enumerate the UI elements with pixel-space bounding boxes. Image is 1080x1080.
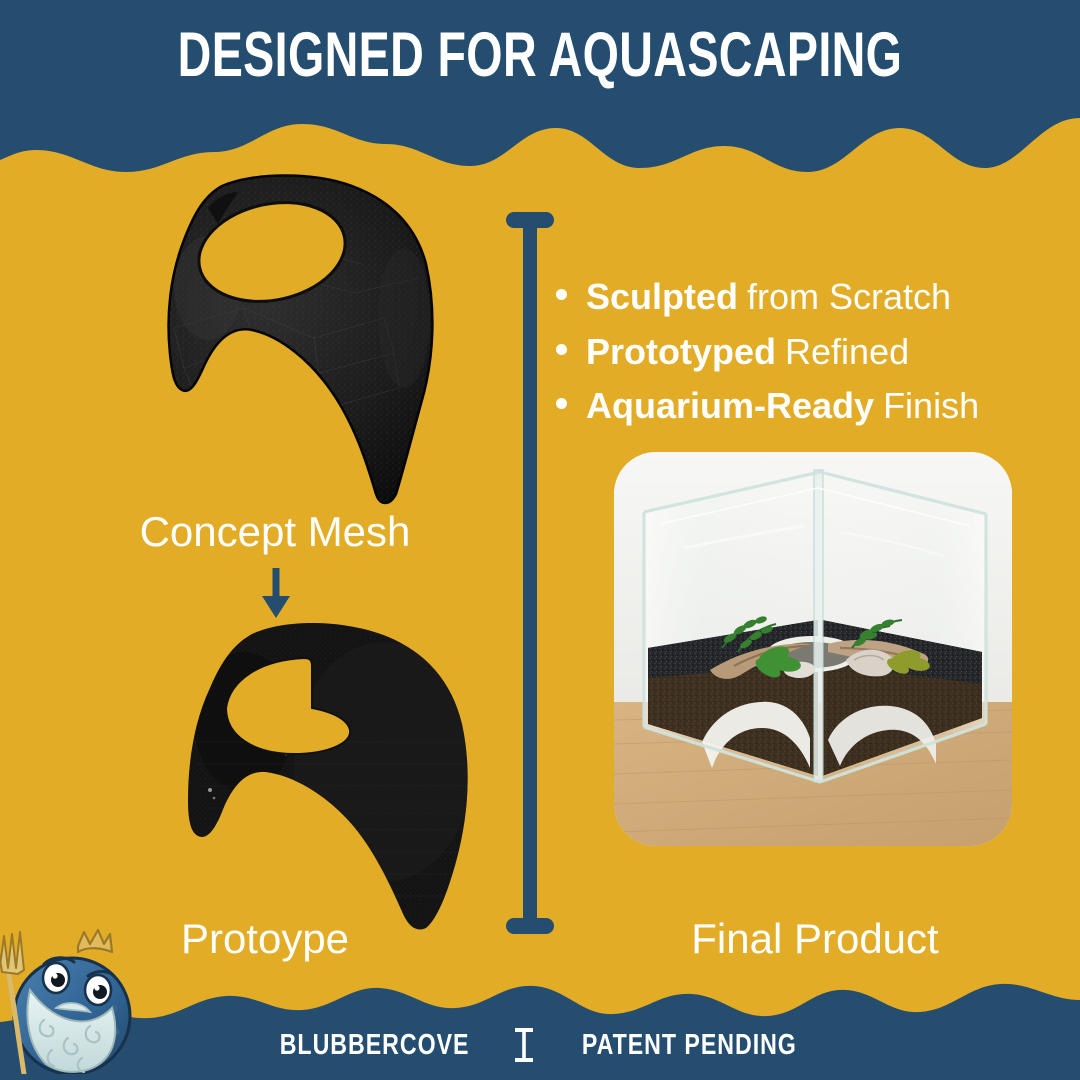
list-item: Prototyped Refined [556, 325, 1076, 380]
brand-name: BLUBBERCOVE [280, 1029, 470, 1062]
list-item-rest: Finish [883, 379, 979, 434]
page-title: DESIGNED FOR AQUASCAPING [140, 24, 939, 87]
bullet-dot-icon [556, 398, 567, 409]
caption-concept-mesh: Concept Mesh [70, 508, 480, 556]
list-item: Aquarium-Ready Finish [556, 379, 1076, 434]
list-item-strong: Aquarium-Ready [586, 379, 874, 434]
final-product-photo [614, 452, 1012, 846]
concept-mesh-artwork [104, 168, 464, 508]
list-item: Sculpted from Scratch [556, 270, 1076, 325]
infographic-poster: DESIGNED FOR AQUASCAPING [0, 0, 1080, 1080]
poseidon-whale-mascot-icon [0, 924, 154, 1074]
list-item-rest: from Scratch [747, 270, 951, 325]
list-item-rest: Refined [785, 325, 909, 380]
bullet-dot-icon [556, 289, 567, 300]
patent-status: PATENT PENDING [582, 1029, 797, 1062]
footer-text: BLUBBERCOVE PATENT PENDING [0, 1028, 1080, 1062]
bullet-dot-icon [556, 344, 567, 355]
list-item-strong: Prototyped [586, 325, 776, 380]
i-beam-icon [513, 1028, 535, 1062]
footer-band [0, 970, 1080, 1080]
feature-list: Sculpted from Scratch Prototyped Refined… [556, 270, 1076, 434]
caption-final-product: Final Product [590, 915, 1040, 963]
list-item-strong: Sculpted [586, 270, 738, 325]
prototype-artwork [134, 612, 494, 932]
